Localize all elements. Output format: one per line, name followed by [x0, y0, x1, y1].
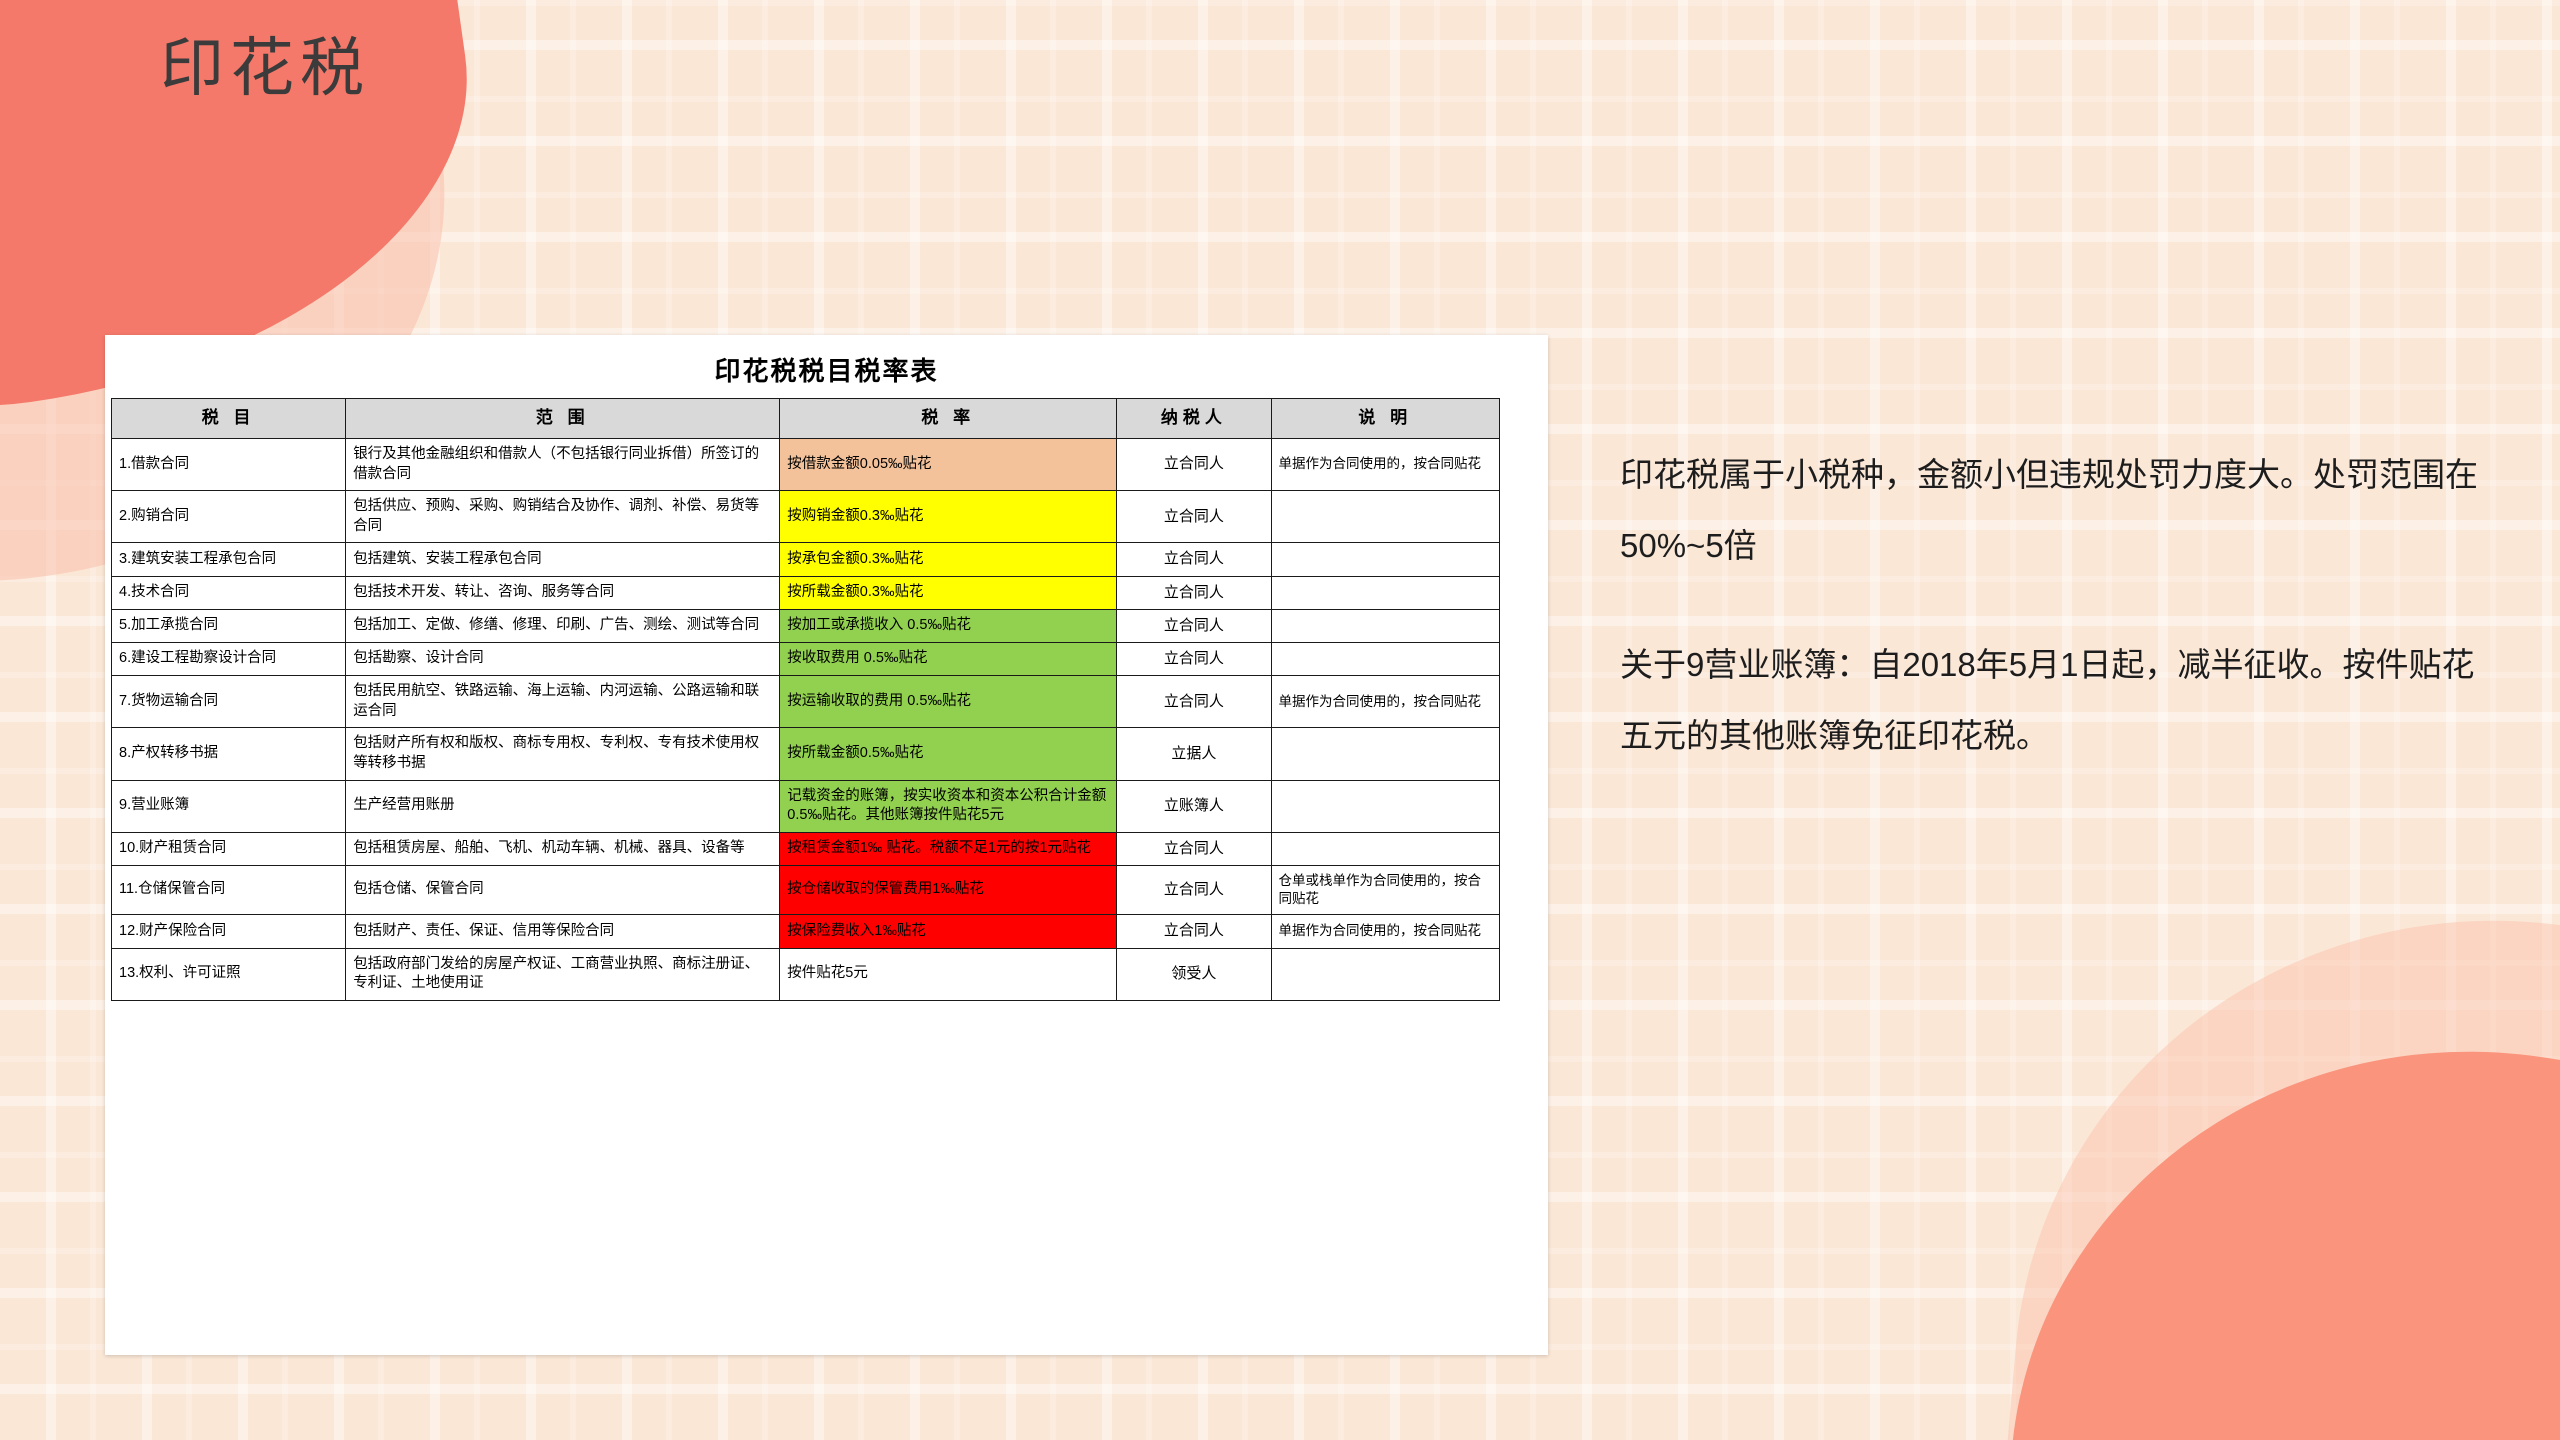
cell-taxpayer: 立据人: [1117, 728, 1271, 780]
table-row: 5.加工承揽合同包括加工、定做、修缮、修理、印刷、广告、测绘、测试等合同按加工或…: [112, 609, 1500, 642]
cell-tax-rate: 按件贴花5元: [780, 948, 1117, 1000]
table-row: 4.技术合同包括技术开发、转让、咨询、服务等合同按所载金额0.3‰贴花立合同人: [112, 576, 1500, 609]
table-caption: 印花税税目税率表: [105, 351, 1548, 388]
table-row: 13.权利、许可证照包括政府部门发给的房屋产权证、工商营业执照、商标注册证、专利…: [112, 948, 1500, 1000]
cell-tax-item: 4.技术合同: [112, 576, 346, 609]
table-row: 7.货物运输合同包括民用航空、铁路运输、海上运输、内河运输、公路运输和联运合同按…: [112, 676, 1500, 728]
cell-tax-rate: 按运输收取的费用 0.5‰贴花: [780, 676, 1117, 728]
cell-taxpayer: 立合同人: [1117, 865, 1271, 914]
cell-tax-rate: 按所载金额0.3‰贴花: [780, 576, 1117, 609]
cell-tax-item: 5.加工承揽合同: [112, 609, 346, 642]
table-row: 8.产权转移书据包括财产所有权和版权、商标专用权、专利权、专有技术使用权等转移书…: [112, 728, 1500, 780]
table-card: 印花税税目税率表 税 目 范 围 税 率 纳税人 说 明 1.借款合同银行及其他…: [105, 335, 1548, 1355]
cell-scope: 生产经营用账册: [346, 780, 780, 832]
cell-scope: 包括仓储、保管合同: [346, 865, 780, 914]
cell-taxpayer: 立账簿人: [1117, 780, 1271, 832]
cell-note: [1271, 948, 1500, 1000]
notes-panel: 印花税属于小税种，金额小但违规处罚力度大。处罚范围在50%~5倍关于9营业账簿：…: [1620, 440, 2490, 772]
cell-scope: 包括财产所有权和版权、商标专用权、专利权、专有技术使用权等转移书据: [346, 728, 780, 780]
cell-tax-item: 11.仓储保管合同: [112, 865, 346, 914]
cell-tax-item: 13.权利、许可证照: [112, 948, 346, 1000]
cell-scope: 包括财产、责任、保证、信用等保险合同: [346, 915, 780, 948]
cell-tax-item: 1.借款合同: [112, 439, 346, 491]
cell-tax-item: 8.产权转移书据: [112, 728, 346, 780]
cell-note: [1271, 543, 1500, 576]
cell-tax-rate: 按承包金额0.3‰贴花: [780, 543, 1117, 576]
cell-tax-rate: 按租赁金额1‰ 贴花。税额不足1元的按1元贴花: [780, 832, 1117, 865]
table-row: 11.仓储保管合同包括仓储、保管合同按仓储收取的保管费用1‰贴花立合同人仓单或栈…: [112, 865, 1500, 914]
cell-taxpayer: 领受人: [1117, 948, 1271, 1000]
cell-tax-rate: 按借款金额0.05‰贴花: [780, 439, 1117, 491]
cell-scope: 包括勘察、设计合同: [346, 643, 780, 676]
cell-note: [1271, 609, 1500, 642]
cell-note: 仓单或栈单作为合同使用的，按合同贴花: [1271, 865, 1500, 914]
cell-scope: 包括技术开发、转让、咨询、服务等合同: [346, 576, 780, 609]
table-row: 12.财产保险合同包括财产、责任、保证、信用等保险合同按保险费收入1‰贴花立合同…: [112, 915, 1500, 948]
cell-taxpayer: 立合同人: [1117, 576, 1271, 609]
cell-tax-rate: 按仓储收取的保管费用1‰贴花: [780, 865, 1117, 914]
cell-tax-rate: 按收取费用 0.5‰贴花: [780, 643, 1117, 676]
table-body: 1.借款合同银行及其他金融组织和借款人（不包括银行同业拆借）所签订的借款合同按借…: [112, 439, 1500, 1001]
column-header-scope: 范 围: [346, 399, 780, 439]
column-header-rate: 税 率: [780, 399, 1117, 439]
cell-note: [1271, 491, 1500, 543]
cell-note: 单据作为合同使用的，按合同贴花: [1271, 915, 1500, 948]
cell-tax-rate: 按加工或承揽收入 0.5‰贴花: [780, 609, 1117, 642]
table-header-row: 税 目 范 围 税 率 纳税人 说 明: [112, 399, 1500, 439]
cell-note: [1271, 832, 1500, 865]
table-row: 9.营业账簿生产经营用账册记载资金的账簿，按实收资本和资本公积合计金额0.5‰贴…: [112, 780, 1500, 832]
cell-note: [1271, 643, 1500, 676]
cell-scope: 包括租赁房屋、船舶、飞机、机动车辆、机械、器具、设备等: [346, 832, 780, 865]
note-paragraph: 印花税属于小税种，金额小但违规处罚力度大。处罚范围在50%~5倍: [1620, 440, 2490, 582]
cell-tax-item: 2.购销合同: [112, 491, 346, 543]
cell-tax-item: 12.财产保险合同: [112, 915, 346, 948]
cell-tax-item: 10.财产租赁合同: [112, 832, 346, 865]
cell-taxpayer: 立合同人: [1117, 676, 1271, 728]
cell-tax-rate: 记载资金的账簿，按实收资本和资本公积合计金额0.5‰贴花。其他账簿按件贴花5元: [780, 780, 1117, 832]
cell-taxpayer: 立合同人: [1117, 915, 1271, 948]
table-row: 10.财产租赁合同包括租赁房屋、船舶、飞机、机动车辆、机械、器具、设备等按租赁金…: [112, 832, 1500, 865]
table-row: 2.购销合同包括供应、预购、采购、购销结合及协作、调剂、补偿、易货等合同按购销金…: [112, 491, 1500, 543]
cell-scope: 包括加工、定做、修缮、修理、印刷、广告、测绘、测试等合同: [346, 609, 780, 642]
cell-tax-rate: 按购销金额0.3‰贴花: [780, 491, 1117, 543]
cell-note: 单据作为合同使用的，按合同贴花: [1271, 676, 1500, 728]
cell-scope: 包括建筑、安装工程承包合同: [346, 543, 780, 576]
cell-tax-item: 9.营业账簿: [112, 780, 346, 832]
cell-note: 单据作为合同使用的，按合同贴花: [1271, 439, 1500, 491]
cell-note: [1271, 576, 1500, 609]
cell-scope: 包括供应、预购、采购、购销结合及协作、调剂、补偿、易货等合同: [346, 491, 780, 543]
cell-taxpayer: 立合同人: [1117, 832, 1271, 865]
table-row: 3.建筑安装工程承包合同包括建筑、安装工程承包合同按承包金额0.3‰贴花立合同人: [112, 543, 1500, 576]
cell-taxpayer: 立合同人: [1117, 439, 1271, 491]
cell-note: [1271, 780, 1500, 832]
page-title: 印花税: [160, 30, 370, 107]
cell-tax-item: 6.建设工程勘察设计合同: [112, 643, 346, 676]
table-row: 6.建设工程勘察设计合同包括勘察、设计合同按收取费用 0.5‰贴花立合同人: [112, 643, 1500, 676]
cell-tax-rate: 按保险费收入1‰贴花: [780, 915, 1117, 948]
cell-tax-item: 3.建筑安装工程承包合同: [112, 543, 346, 576]
cell-taxpayer: 立合同人: [1117, 643, 1271, 676]
cell-note: [1271, 728, 1500, 780]
cell-taxpayer: 立合同人: [1117, 491, 1271, 543]
cell-scope: 银行及其他金融组织和借款人（不包括银行同业拆借）所签订的借款合同: [346, 439, 780, 491]
note-paragraph: 关于9营业账簿：自2018年5月1日起，减半征收。按件贴花五元的其他账簿免征印花…: [1620, 630, 2490, 772]
cell-taxpayer: 立合同人: [1117, 609, 1271, 642]
cell-scope: 包括政府部门发给的房屋产权证、工商营业执照、商标注册证、专利证、土地使用证: [346, 948, 780, 1000]
cell-scope: 包括民用航空、铁路运输、海上运输、内河运输、公路运输和联运合同: [346, 676, 780, 728]
column-header-item: 税 目: [112, 399, 346, 439]
cell-taxpayer: 立合同人: [1117, 543, 1271, 576]
table-row: 1.借款合同银行及其他金融组织和借款人（不包括银行同业拆借）所签订的借款合同按借…: [112, 439, 1500, 491]
cell-tax-rate: 按所载金额0.5‰贴花: [780, 728, 1117, 780]
cell-tax-item: 7.货物运输合同: [112, 676, 346, 728]
column-header-payer: 纳税人: [1117, 399, 1271, 439]
stamp-tax-rate-table: 税 目 范 围 税 率 纳税人 说 明 1.借款合同银行及其他金融组织和借款人（…: [111, 398, 1500, 1001]
column-header-note: 说 明: [1271, 399, 1500, 439]
